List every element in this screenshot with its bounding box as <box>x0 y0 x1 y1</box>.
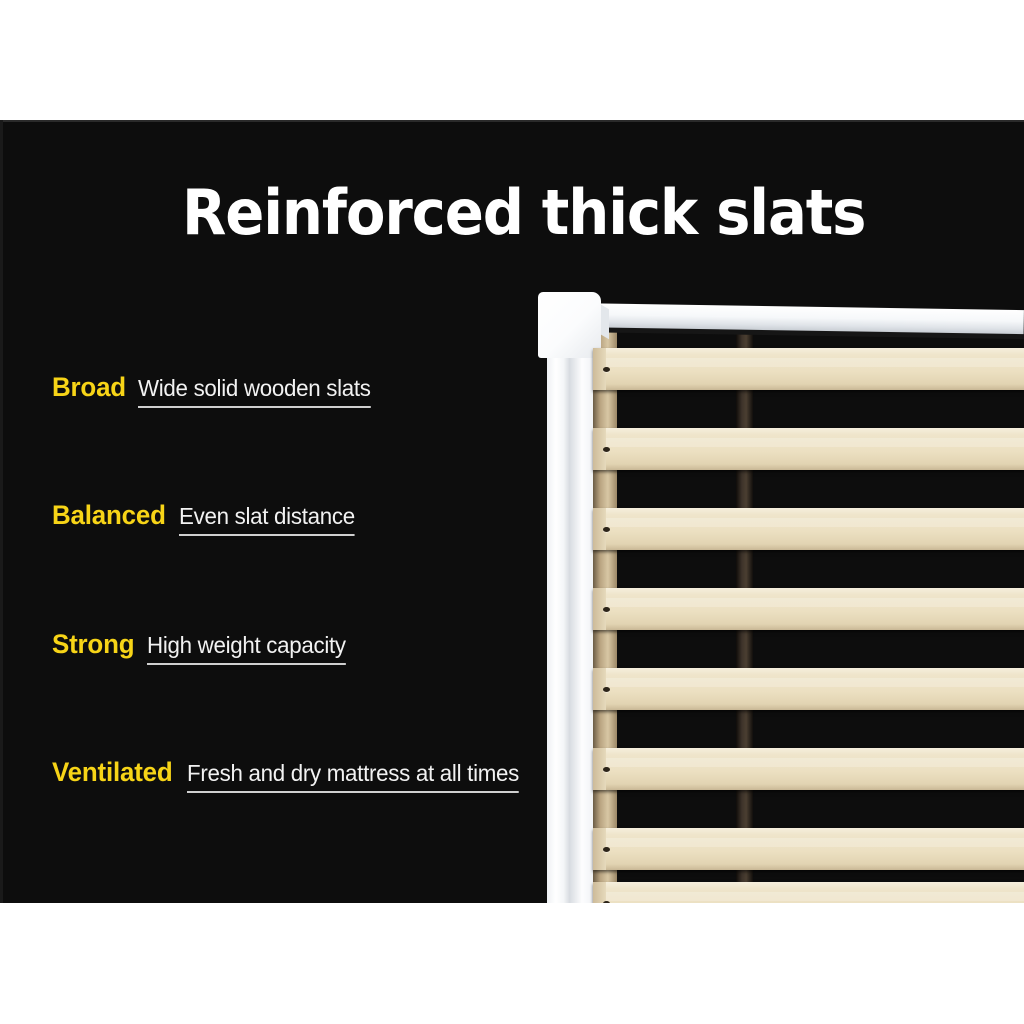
feature-item-ventilated: Ventilated Fresh and dry mattress at all… <box>52 757 529 793</box>
feature-term: Ventilated <box>52 757 173 788</box>
frame-corner-post <box>547 356 570 903</box>
slat-screw <box>603 767 610 772</box>
slat-end-cap <box>593 882 606 903</box>
feature-item-strong: Strong High weight capacity <box>52 629 352 665</box>
slat-screw <box>603 687 610 692</box>
wooden-slat <box>593 588 1024 630</box>
corner-post-cap <box>538 292 601 358</box>
infographic-canvas: Reinforced thick slats Broad Wide solid … <box>0 0 1024 1024</box>
wooden-slat <box>593 668 1024 710</box>
feature-term: Balanced <box>52 500 166 531</box>
feature-item-broad: Broad Wide solid wooden slats <box>52 372 378 408</box>
feature-description: Even slat distance <box>179 503 355 536</box>
slat-screw <box>603 901 610 903</box>
feature-item-balanced: Balanced Even slat distance <box>52 500 361 536</box>
wooden-slat <box>593 748 1024 790</box>
slat-screw <box>603 367 610 372</box>
slat-screw <box>603 847 610 852</box>
slat-screw <box>603 447 610 452</box>
feature-term: Broad <box>52 372 126 403</box>
feature-description: Fresh and dry mattress at all times <box>187 760 519 793</box>
wooden-slat <box>593 508 1024 550</box>
wooden-slat <box>593 348 1024 390</box>
feature-description: Wide solid wooden slats <box>138 375 371 408</box>
feature-description: High weight capacity <box>147 632 346 665</box>
slat-screw <box>603 527 610 532</box>
wooden-slat <box>593 828 1024 870</box>
wooden-slat <box>593 428 1024 470</box>
wooden-slat <box>593 882 1024 903</box>
feature-term: Strong <box>52 629 134 660</box>
page-title: Reinforced thick slats <box>182 182 865 244</box>
slat-screw <box>603 607 610 612</box>
